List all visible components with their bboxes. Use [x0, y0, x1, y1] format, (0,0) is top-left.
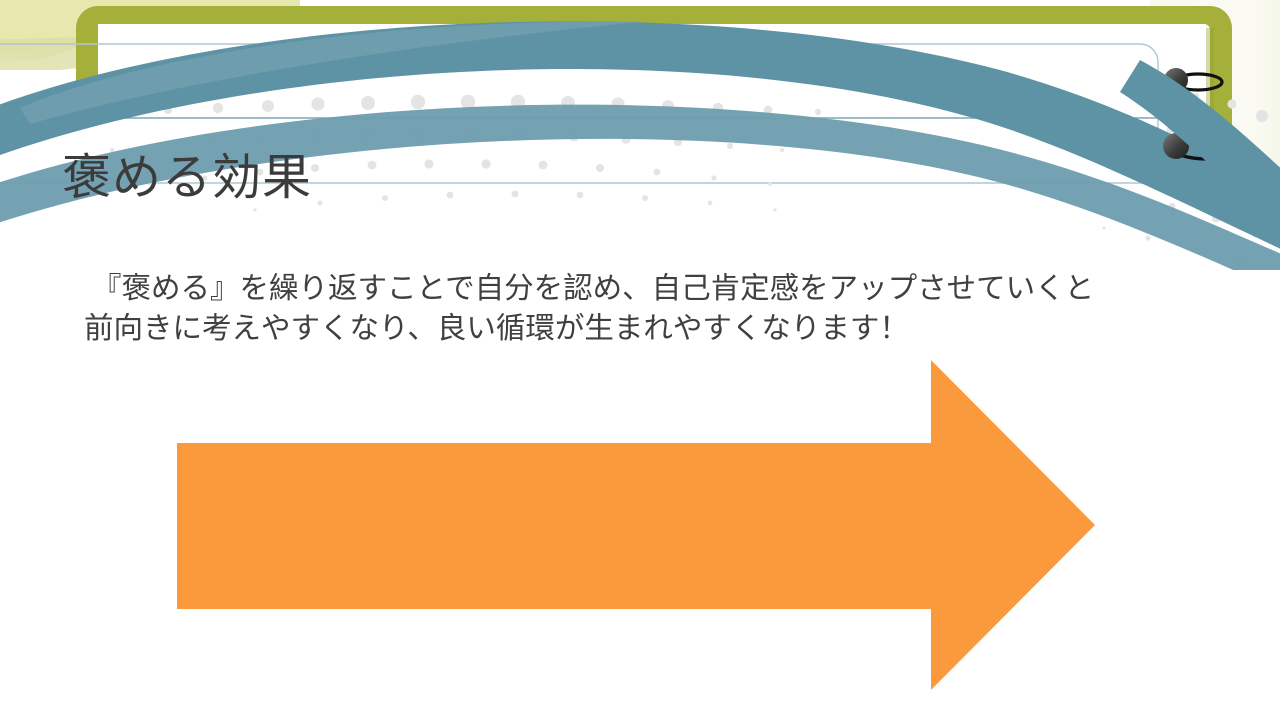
slide-title: 褒める効果	[62, 152, 312, 203]
slide-body-text: 『褒める』を繰り返すことで自分を認め、自己肯定感をアップさせていくと 前向きに考…	[70, 268, 1220, 348]
body-line-1: 『褒める』を繰り返すことで自分を認め、自己肯定感をアップさせていくと	[70, 268, 1220, 308]
slide-header-decoration	[0, 0, 1280, 270]
slide-canvas: 褒める効果 『褒める』を繰り返すことで自分を認め、自己肯定感をアップさせていくと…	[0, 0, 1280, 720]
right-arrow-shape	[0, 340, 1280, 720]
process-arrow-diagram: 褒め言葉の 繰り返し セロトニン・ ドーパミンの 分泌 心の安定 自己承認 肯定…	[0, 340, 1280, 720]
